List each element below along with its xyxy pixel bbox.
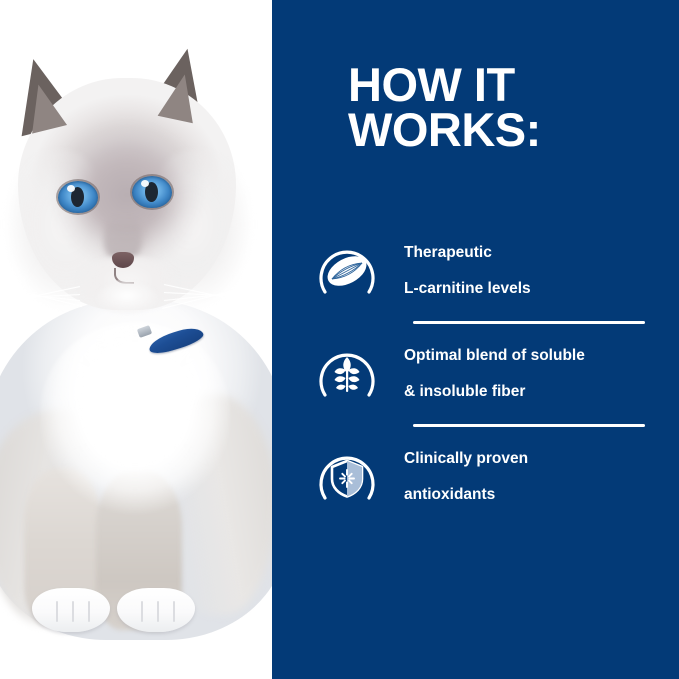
cat-photo (0, 0, 272, 679)
paw-toe-line (88, 601, 90, 622)
headline-line-1: HOW IT (348, 62, 668, 107)
feature-line-1: Therapeutic (404, 245, 531, 261)
feature-line-2: L-carnitine levels (404, 281, 531, 297)
headline-line-2: WORKS: (348, 107, 668, 152)
feature-list: Therapeutic L-carnitine levels (272, 228, 679, 520)
feature-text: Optimal blend of soluble & insoluble fib… (404, 348, 585, 401)
cat-chin (96, 282, 158, 316)
muscle-fiber-icon (316, 240, 378, 302)
feature-item-antioxidants: Clinically proven antioxidants (272, 434, 679, 520)
feature-divider (413, 321, 645, 324)
paw-toe-line (141, 601, 143, 622)
paw-toe-line (56, 601, 58, 622)
wheat-sprig-icon (316, 343, 378, 405)
feature-line-2: antioxidants (404, 487, 528, 503)
how-it-works-promo-card: HOW IT WORKS: (0, 0, 679, 679)
feature-item-therapeutic-l-carnitine: Therapeutic L-carnitine levels (272, 228, 679, 314)
feature-text: Clinically proven antioxidants (404, 451, 528, 504)
paw-toe-line (173, 601, 175, 622)
shield-burst-icon (316, 446, 378, 508)
feature-text: Therapeutic L-carnitine levels (404, 245, 531, 298)
page-title: HOW IT WORKS: (348, 62, 668, 152)
feature-line-2: & insoluble fiber (404, 384, 585, 400)
cat-eye-glint (67, 185, 75, 192)
feature-item-fiber-blend: Optimal blend of soluble & insoluble fib… (272, 331, 679, 417)
cat-chest-ruff (40, 322, 230, 537)
cat-paw-right (117, 588, 195, 632)
cat-photo-panel (0, 0, 272, 679)
paw-toe-line (157, 601, 159, 622)
cat-paw-left (32, 588, 110, 632)
feature-divider (413, 424, 645, 427)
info-panel: HOW IT WORKS: (272, 0, 679, 679)
cat-eye-glint (141, 180, 149, 187)
cat-eye-right (132, 176, 172, 208)
feature-line-1: Clinically proven (404, 451, 528, 467)
paw-toe-line (72, 601, 74, 622)
feature-line-1: Optimal blend of soluble (404, 348, 585, 364)
cat-eye-left (58, 181, 98, 213)
